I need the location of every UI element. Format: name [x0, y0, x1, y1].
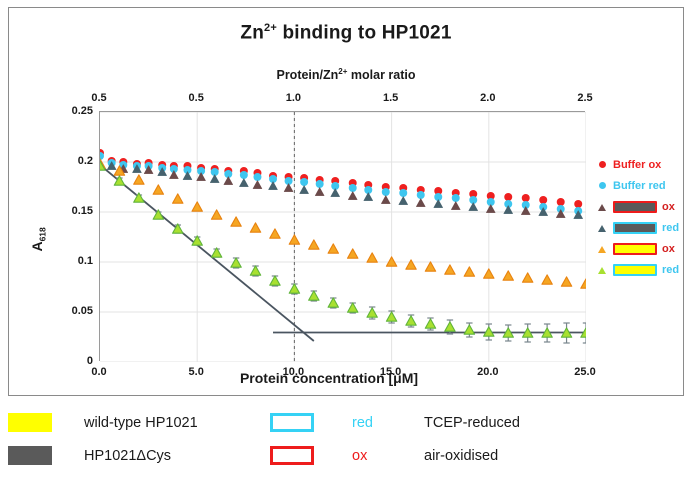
x-axis-tick-label: 20.0: [477, 366, 498, 378]
y-axis-title-main: A: [29, 241, 45, 251]
legend-row[interactable]: red: [597, 259, 693, 280]
legend-label: Buffer red: [613, 180, 666, 192]
chart-title-rest: binding to HP1021: [277, 22, 452, 43]
legend-protein-swatch: [613, 243, 657, 255]
legend-swatch-wildtype: [8, 413, 52, 432]
top-axis-title-rest: molar ratio: [347, 68, 415, 82]
data-point-triangle: [348, 249, 358, 258]
data-point-triangle: [328, 244, 338, 253]
legend-marker-triangle-icon: [598, 225, 606, 232]
data-point-triangle: [211, 248, 221, 257]
chart-title: Zn2+ binding to HP1021: [9, 22, 683, 44]
series-wild-type-hp1021-red: [100, 161, 586, 337]
data-point-triangle: [269, 182, 278, 190]
data-point-triangle: [367, 253, 377, 262]
data-point-triangle: [289, 235, 299, 244]
legend-marker-circle: [597, 159, 608, 170]
series-hp1021-cys-red: [107, 162, 582, 219]
y-axis-tick-label: 0.1: [78, 255, 93, 267]
data-point-triangle: [250, 223, 260, 232]
legend-label-dcys-cell: HP1021ΔCys: [70, 448, 270, 464]
y-axis-tick-label: 0.2: [78, 155, 93, 167]
legend-marker-triangle-icon: [598, 204, 606, 211]
data-point-circle: [522, 194, 530, 202]
data-point-circle: [382, 188, 390, 196]
legend-protein-swatch: [613, 222, 657, 234]
x-axis-title: Protein concentration [μM]: [79, 370, 579, 386]
data-point-triangle: [425, 319, 435, 328]
data-point-triangle: [309, 291, 319, 300]
data-point-circle: [417, 191, 425, 199]
data-point-circle: [399, 189, 407, 197]
data-point-triangle: [522, 273, 532, 282]
data-point-triangle: [464, 267, 474, 276]
data-point-triangle: [434, 200, 443, 208]
data-point-triangle: [331, 189, 340, 197]
data-point-circle: [253, 173, 261, 181]
fit-line-descending: [100, 165, 314, 341]
legend-protein-swatch: [613, 201, 657, 213]
legend-label-wildtype-cell: wild-type HP1021: [70, 415, 270, 431]
legend-marker-triangle: [597, 222, 608, 233]
data-point-triangle: [484, 327, 494, 336]
data-point-triangle: [253, 181, 262, 189]
top-axis-tick-label: 0.5: [189, 92, 204, 104]
data-point-triangle: [239, 179, 248, 187]
data-point-triangle: [484, 269, 494, 278]
legend-swatch-wildtype-cell: [8, 413, 70, 432]
data-point-triangle: [561, 277, 571, 286]
data-point-triangle: [309, 240, 319, 249]
series-hp1021-cys-ox: [100, 161, 565, 218]
legend-swatch-red-outline: [270, 413, 314, 432]
legend-marker-triangle: [597, 243, 608, 254]
legend-label: ox: [662, 243, 675, 255]
data-point-triangle: [289, 284, 299, 293]
data-point-triangle: [270, 229, 280, 238]
data-point-triangle: [367, 308, 377, 317]
error-bar-group: [100, 164, 586, 343]
data-point-circle: [539, 196, 547, 204]
legend-label: red: [662, 264, 679, 276]
legend-label-wildtype: wild-type HP1021: [84, 415, 198, 431]
legend-swatch-ox-outline: [270, 446, 314, 465]
data-point-triangle: [192, 236, 202, 245]
data-point-triangle: [348, 192, 357, 200]
data-point-circle: [504, 193, 512, 201]
legend-marker-circle: [597, 180, 608, 191]
data-point-triangle: [386, 312, 396, 321]
data-point-circle: [316, 180, 324, 188]
legend-label: red: [662, 222, 679, 234]
data-point-triangle: [173, 194, 183, 203]
chart-panel: Zn2+ binding to HP1021 Protein/Zn2+ mola…: [8, 7, 684, 396]
y-axis-title: A618: [29, 227, 48, 251]
data-point-triangle: [210, 175, 219, 183]
legend-row[interactable]: Buffer red: [597, 175, 693, 196]
data-point-triangle: [381, 196, 390, 204]
top-axis-tick-label: 0.5: [91, 92, 106, 104]
legend-marker-triangle-icon: [598, 246, 606, 253]
legend-label-tcep-cell: TCEP-reduced: [410, 415, 520, 431]
legend-swatch-dcys: [8, 446, 52, 465]
legend-row[interactable]: Buffer ox: [597, 154, 693, 175]
legend-row[interactable]: ox: [597, 238, 693, 259]
plot-area: [99, 111, 585, 361]
data-point-triangle: [406, 260, 416, 269]
data-point-triangle: [348, 303, 358, 312]
legend-protein-swatch: [613, 264, 657, 276]
data-point-circle: [574, 200, 582, 208]
y-axis-tick-label: 0.05: [72, 305, 93, 317]
data-point-triangle: [503, 271, 513, 280]
top-axis-tick-label: 1.0: [286, 92, 301, 104]
data-point-triangle: [445, 265, 455, 274]
data-point-triangle: [504, 206, 513, 214]
legend-swatch-ox-cell: [270, 446, 338, 465]
data-point-triangle: [486, 205, 495, 213]
chart-title-superscript: 2+: [264, 22, 277, 34]
data-point-triangle: [300, 186, 309, 194]
data-point-triangle: [192, 202, 202, 211]
bottom-legend-row-1: wild-type HP1021 red TCEP-reduced: [8, 406, 684, 439]
data-point-triangle: [197, 173, 206, 181]
y-axis-title-subscript: 618: [38, 227, 48, 241]
legend-marker-circle-icon: [599, 161, 606, 168]
data-point-circle: [452, 194, 460, 202]
legend-marker-triangle-icon: [598, 267, 606, 274]
data-point-circle: [300, 178, 308, 186]
data-point-triangle: [416, 199, 425, 207]
legend-label-air-oxidised: air-oxidised: [424, 448, 498, 464]
bottom-legend: wild-type HP1021 red TCEP-reduced HP1021…: [8, 406, 684, 486]
data-point-triangle: [328, 298, 338, 307]
x-axis-tick-label: 5.0: [189, 366, 204, 378]
data-point-triangle: [250, 266, 260, 275]
top-axis-tick-label: 2.5: [577, 92, 592, 104]
legend-label-dcys: HP1021ΔCys: [84, 448, 171, 464]
top-axis-title-main: Protein/Zn: [276, 68, 338, 82]
data-point-triangle: [364, 193, 373, 201]
data-point-triangle: [521, 207, 530, 215]
data-point-triangle: [469, 203, 478, 211]
legend-label-ox: ox: [352, 448, 367, 464]
data-point-triangle: [581, 279, 586, 288]
legend-label-tcep-reduced: TCEP-reduced: [424, 415, 520, 431]
data-point-triangle: [284, 184, 293, 192]
legend-row[interactable]: ox: [597, 196, 693, 217]
legend-row[interactable]: red: [597, 217, 693, 238]
y-axis-tick-label: 0.25: [72, 105, 93, 117]
legend-label-ox-cell: ox: [338, 448, 410, 464]
data-point-triangle: [153, 185, 163, 194]
data-point-triangle: [231, 217, 241, 226]
top-axis-title: Protein/Zn2+ molar ratio: [9, 67, 683, 82]
legend-label-airox-cell: air-oxidised: [410, 448, 498, 464]
legend-swatch-dcys-cell: [8, 446, 70, 465]
data-point-triangle: [183, 172, 192, 180]
data-point-triangle: [224, 177, 233, 185]
data-point-triangle: [270, 276, 280, 285]
legend-marker-circle-icon: [599, 182, 606, 189]
data-point-triangle: [464, 325, 474, 334]
data-point-triangle: [169, 171, 178, 179]
plot-canvas: [100, 112, 586, 362]
data-point-triangle: [399, 197, 408, 205]
data-point-circle: [557, 198, 565, 206]
data-point-triangle: [445, 322, 455, 331]
data-point-triangle: [134, 175, 144, 184]
legend-label-red-cell: red: [338, 415, 410, 431]
x-axis-tick-label: 15.0: [380, 366, 401, 378]
y-axis-tick-label: 0: [87, 355, 93, 367]
legend-label: ox: [662, 201, 675, 213]
legend-marker-triangle: [597, 264, 608, 275]
data-point-circle: [240, 171, 248, 179]
top-axis-tick-label: 1.5: [383, 92, 398, 104]
data-point-triangle: [315, 188, 324, 196]
legend-label-red: red: [352, 415, 373, 431]
data-point-triangle: [406, 316, 416, 325]
data-point-triangle: [153, 210, 163, 219]
data-point-triangle: [542, 275, 552, 284]
legend-label: Buffer ox: [613, 159, 661, 171]
series-buffer-red: [100, 152, 582, 215]
series-legend: Buffer oxBuffer redoxredoxred: [597, 154, 693, 280]
data-point-triangle: [231, 258, 241, 267]
x-axis-tick-label: 10.0: [283, 366, 304, 378]
x-axis-tick-label: 0.0: [91, 366, 106, 378]
data-point-triangle: [451, 202, 460, 210]
data-point-circle: [349, 184, 357, 192]
data-point-triangle: [425, 262, 435, 271]
y-axis-tick-label: 0.15: [72, 205, 93, 217]
bottom-legend-row-2: HP1021ΔCys ox air-oxidised: [8, 439, 684, 472]
top-axis-tick-label: 2.0: [480, 92, 495, 104]
figure-root: Zn2+ binding to HP1021 Protein/Zn2+ mola…: [0, 0, 693, 490]
data-point-triangle: [211, 210, 221, 219]
chart-title-main: Zn: [240, 22, 264, 43]
legend-swatch-red-cell: [270, 413, 338, 432]
legend-marker-triangle: [597, 201, 608, 212]
x-axis-tick-label: 25.0: [574, 366, 595, 378]
